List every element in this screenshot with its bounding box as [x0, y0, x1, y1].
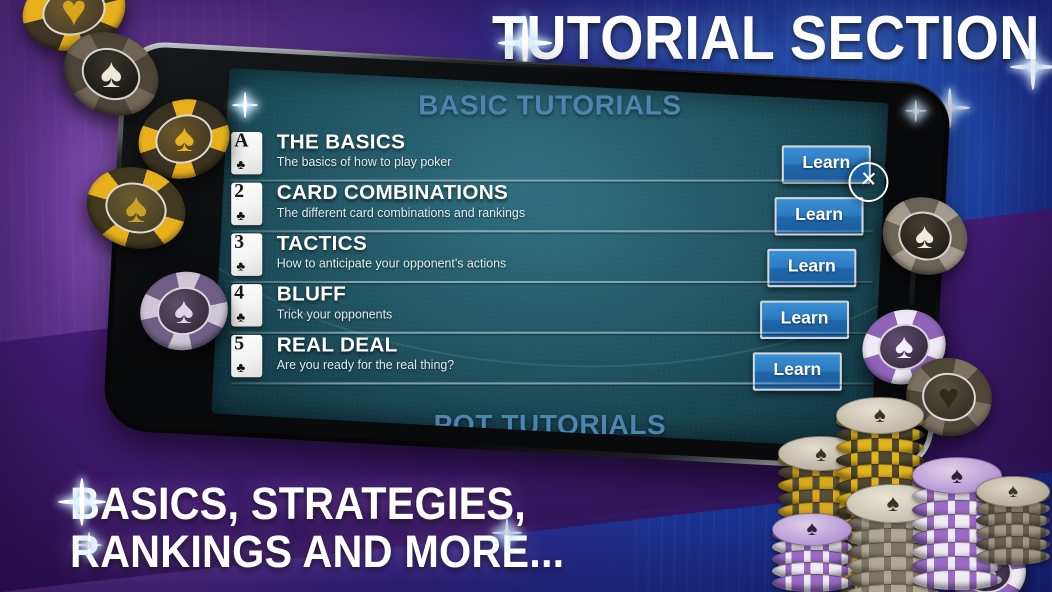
tutorial-subtitle: How to anticipate your opponent's action… [277, 257, 507, 272]
chip-face: ♠ [152, 282, 215, 341]
tutorial-title: REAL DEAL [277, 334, 454, 357]
card-suit-icon: ♣ [236, 310, 245, 323]
tutorial-title: THE BASICS [277, 131, 452, 154]
chip-emblem-icon: ♠ [807, 519, 818, 539]
tutorial-text: THE BASICSThe basics of how to play poke… [277, 131, 452, 170]
playing-card-icon: 4♣ [231, 284, 262, 326]
tutorial-title: BLUFF [277, 283, 393, 306]
playing-card-icon: 3♣ [231, 233, 262, 275]
tutorial-text: TACTICSHow to anticipate your opponent's… [277, 232, 507, 271]
stacked-chip [772, 574, 852, 592]
chip-face: ♠ [891, 204, 958, 268]
chip-emblem-icon: ♠ [951, 464, 963, 487]
card-suit-icon: ♣ [236, 158, 245, 171]
tutorial-list: A♣THE BASICSThe basics of how to play po… [231, 131, 873, 385]
card-suit-icon: ♣ [236, 209, 245, 222]
chip-emblem-icon: ♠ [874, 404, 886, 426]
card-suit-icon: ♣ [236, 361, 245, 374]
tutorial-row[interactable]: 3♣TACTICSHow to anticipate your opponent… [231, 232, 873, 283]
chip-emblem-icon: ♥ [938, 379, 959, 415]
tutorial-text: BLUFFTrick your opponents [277, 283, 393, 322]
row-divider [231, 382, 873, 384]
promo-screenshot: TUTORIAL SECTION BASIC TUTORIALS A♣THE B… [0, 0, 1052, 592]
chip-emblem-icon: ♠ [1008, 482, 1018, 501]
caption-line-2: RANKINGS AND MORE... [70, 528, 564, 576]
tutorial-row[interactable]: 2♣CARD COMBINATIONSThe different card co… [231, 182, 873, 233]
card-rank: A [234, 131, 248, 153]
playing-card-icon: 5♣ [231, 335, 262, 377]
tutorial-row[interactable]: 5♣REAL DEALAre you ready for the real th… [231, 334, 873, 385]
tutorial-text: CARD COMBINATIONSThe different card comb… [277, 182, 525, 221]
tutorial-subtitle: Trick your opponents [277, 307, 393, 322]
stacked-chip-top: ♠ [976, 476, 1050, 507]
chip-emblem-icon: ♠ [895, 329, 914, 364]
tutorial-subtitle: The basics of how to play poker [277, 155, 452, 170]
chip-emblem-icon: ♥ [61, 0, 87, 33]
stacked-chip [912, 570, 1002, 590]
chip-emblem-icon: ♠ [815, 443, 827, 465]
playing-card-icon: 2♣ [231, 183, 262, 225]
tutorial-title: CARD COMBINATIONS [277, 182, 525, 205]
promo-caption: BASICS, STRATEGIES, RANKINGS AND MORE... [70, 480, 564, 576]
tutorial-row[interactable]: A♣THE BASICSThe basics of how to play po… [231, 131, 873, 182]
card-suit-icon: ♣ [236, 259, 245, 272]
chip-face: ♠ [73, 38, 149, 109]
chip-emblem-icon: ♠ [915, 218, 934, 254]
chip-emblem-icon: ♠ [100, 53, 122, 94]
chip-face: ♠ [149, 107, 218, 171]
tutorial-text: REAL DEALAre you ready for the real thin… [277, 334, 454, 373]
phone-screen: BASIC TUTORIALS A♣THE BASICSThe basics o… [211, 68, 888, 449]
card-rank: 4 [234, 283, 244, 305]
chip-face: ♠ [99, 176, 172, 241]
tutorial-subtitle: Are you ready for the real thing? [277, 358, 454, 373]
tutorial-subtitle: The different card combinations and rank… [277, 206, 525, 221]
chip-emblem-icon: ♠ [887, 492, 900, 516]
page-title: TUTORIAL SECTION [492, 8, 1040, 70]
tutorial-panel: BASIC TUTORIALS A♣THE BASICSThe basics o… [211, 79, 888, 437]
learn-button[interactable]: Learn [753, 352, 842, 390]
stacked-chip-top: ♠ [772, 513, 852, 546]
chip-emblem-icon: ♠ [125, 187, 147, 229]
phone-mockup: BASIC TUTORIALS A♣THE BASICSThe basics o… [102, 40, 952, 474]
stacked-chip [976, 548, 1050, 565]
playing-card-icon: A♣ [231, 132, 262, 174]
chip-emblem-icon: ♠ [174, 293, 194, 330]
stacked-chip-top: ♠ [836, 397, 924, 433]
chip-face: ♥ [919, 369, 980, 426]
caption-line-1: BASICS, STRATEGIES, [70, 480, 564, 528]
tutorial-row[interactable]: 4♣BLUFFTrick your opponentsLearn [231, 283, 873, 334]
card-rank: 5 [234, 334, 244, 356]
tutorial-title: TACTICS [277, 232, 507, 255]
card-rank: 2 [234, 182, 244, 204]
chip-emblem-icon: ♠ [174, 120, 195, 159]
card-rank: 3 [234, 232, 244, 254]
